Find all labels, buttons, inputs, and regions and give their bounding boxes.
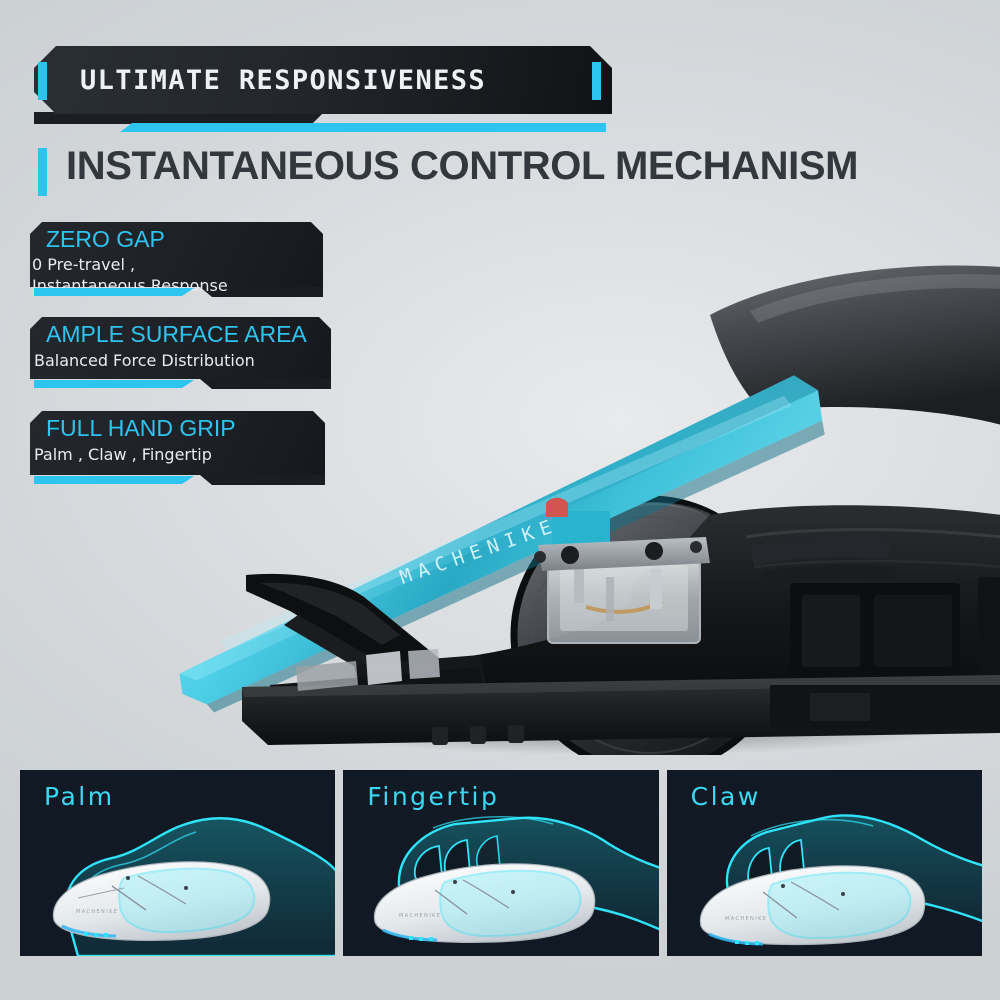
feature-callout-title: AMPLE SURFACE AREA	[46, 321, 307, 348]
grip-panel-claw: MACHENIKE Claw	[667, 770, 982, 956]
main-title-accent-bar	[38, 148, 47, 196]
callout-subtitle-line: Balanced Force Distribution	[34, 350, 255, 371]
grip-style-panels: MACHENIKE Palm	[20, 770, 982, 956]
feature-callout-subtitle: Palm , Claw , Fingertip	[34, 444, 212, 465]
callout-underline-accent	[34, 288, 194, 296]
page-title: INSTANTANEOUS CONTROL MECHANISM	[66, 144, 858, 189]
grip-panel-label: Fingertip	[367, 782, 499, 811]
feature-callout-subtitle: Balanced Force Distribution	[34, 350, 255, 371]
header-banner-text: ULTIMATE RESPONSIVENESS	[80, 65, 486, 96]
grip-panel-fingertip: MACHENIKE Fingertip	[343, 770, 658, 956]
callout-underline-accent	[34, 380, 194, 388]
svg-text:MACHENIKE: MACHENIKE	[399, 913, 441, 919]
banner-underline-accent	[120, 123, 606, 132]
callout-subtitle-line: Palm , Claw , Fingertip	[34, 444, 212, 465]
callout-subtitle-line: 0 Pre-travel ,	[32, 254, 228, 275]
banner-tick-left-icon	[38, 62, 47, 100]
header-banner: ULTIMATE RESPONSIVENESS	[34, 46, 612, 114]
grip-panel-label: Palm	[44, 782, 115, 811]
feature-callout-title: FULL HAND GRIP	[46, 415, 236, 442]
grip-panel-label: Claw	[691, 782, 761, 811]
callout-underline-accent	[34, 476, 194, 484]
feature-callout-title: ZERO GAP	[46, 226, 165, 253]
svg-text:MACHENIKE: MACHENIKE	[76, 909, 118, 915]
grip-panel-palm: MACHENIKE Palm	[20, 770, 335, 956]
svg-text:MACHENIKE: MACHENIKE	[725, 916, 767, 922]
banner-tick-right-icon	[592, 62, 601, 100]
